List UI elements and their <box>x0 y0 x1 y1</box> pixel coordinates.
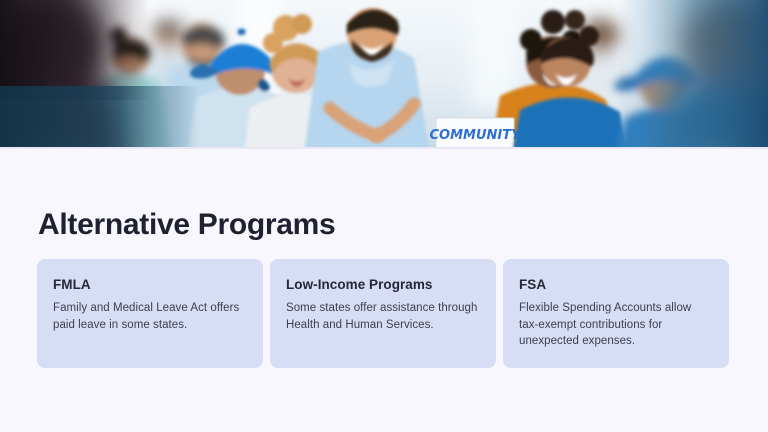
content-section: Alternative Programs FMLA Family and Med… <box>0 149 768 432</box>
page-root: COMMUNITY <box>0 0 768 432</box>
program-card-title: Low-Income Programs <box>286 276 480 293</box>
program-card-fsa: FSA Flexible Spending Accounts allow tax… <box>503 259 729 368</box>
hero-photo: COMMUNITY <box>0 0 768 149</box>
program-card-title: FMLA <box>53 276 247 293</box>
program-card-body: Family and Medical Leave Act offers paid… <box>53 300 247 333</box>
program-card-title: FSA <box>519 276 713 293</box>
program-card-low-income-programs: Low-Income Programs Some states offer as… <box>270 259 496 368</box>
program-card-body: Some states offer assistance through Hea… <box>286 300 480 333</box>
community-sign-graphic: COMMUNITY <box>429 118 522 148</box>
hero-banner: COMMUNITY <box>0 0 768 149</box>
page-title: Alternative Programs <box>38 208 335 242</box>
program-card-list: FMLA Family and Medical Leave Act offers… <box>37 259 729 368</box>
program-card-body: Flexible Spending Accounts allow tax-exe… <box>519 300 713 350</box>
community-sign-text: COMMUNITY <box>429 128 522 143</box>
program-card-fmla: FMLA Family and Medical Leave Act offers… <box>37 259 263 368</box>
